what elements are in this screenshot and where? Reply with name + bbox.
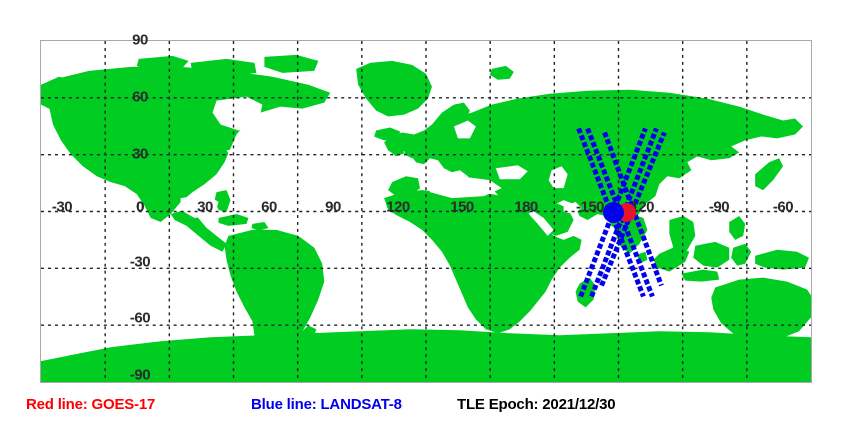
legend-landsat8: Blue line: LANDSAT-8 [251, 396, 402, 413]
lat-label--90: -90 [130, 367, 150, 384]
legend-goes17: Red line: GOES-17 [26, 396, 155, 413]
lat-label--30: -30 [130, 254, 150, 271]
lon-label--90: -90 [709, 199, 729, 216]
lat-label-30: 30 [132, 146, 148, 163]
lon-label-90: 90 [325, 199, 341, 216]
lon-label-150: 150 [450, 199, 474, 216]
lat-label-60: 60 [132, 89, 148, 106]
lon-label-60: 60 [261, 199, 277, 216]
lat-label-90: 90 [132, 32, 148, 49]
lon-label-120: 120 [386, 199, 410, 216]
legend: Red line: GOES-17 Blue line: LANDSAT-8 T… [0, 392, 850, 420]
lon-label--30: -30 [52, 199, 72, 216]
legend-tle-epoch: TLE Epoch: 2021/12/30 [457, 396, 615, 413]
lon-label-180: 180 [514, 199, 538, 216]
lat-label--60: -60 [130, 310, 150, 327]
lon-label--150: -150 [576, 199, 604, 216]
map-canvas [41, 41, 811, 382]
world-map [40, 40, 812, 383]
lon-label-30: 30 [197, 199, 213, 216]
lat-label-0: 0 [136, 199, 144, 216]
satellite-marker-landsat8 [603, 202, 624, 223]
lon-label--60: -60 [773, 199, 793, 216]
